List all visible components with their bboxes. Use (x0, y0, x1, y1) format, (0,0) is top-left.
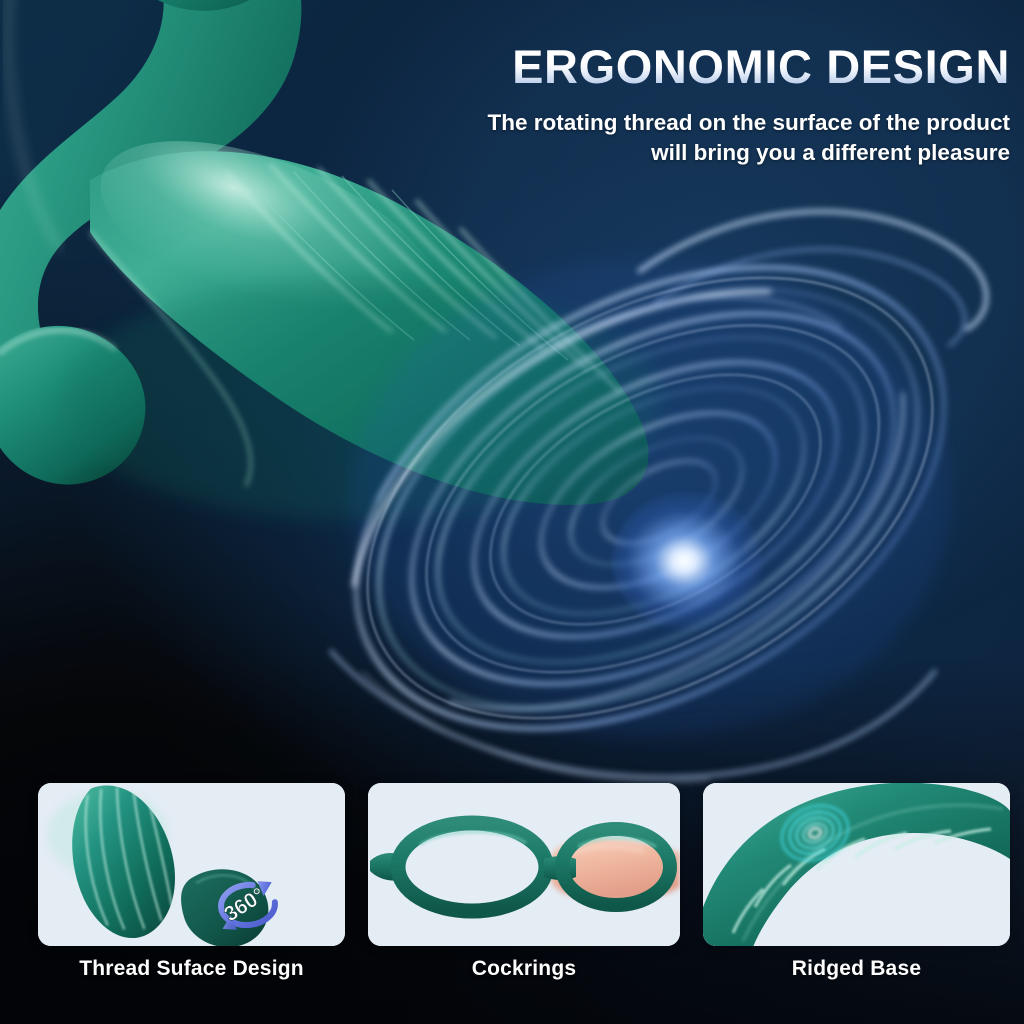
feature-card-thread-surface-design[interactable]: 360° (38, 783, 345, 946)
feature-card-row: 360° (38, 783, 1010, 946)
page-title: ERGONOMIC DESIGN (370, 42, 1010, 92)
headline-block: ERGONOMIC DESIGN The rotating thread on … (370, 42, 1010, 167)
feature-caption-row: Thread Suface Design Cockrings Ridged Ba… (38, 955, 1010, 995)
feature-card-cockrings[interactable] (368, 783, 680, 946)
caption-thread-surface-design: Thread Suface Design (38, 955, 345, 995)
caption-ridged-base: Ridged Base (703, 955, 1010, 995)
subtitle-line-2: will bring you a different pleasure (370, 138, 1010, 168)
subtitle-line-1: The rotating thread on the surface of th… (370, 108, 1010, 138)
feature-card-ridged-base[interactable] (703, 783, 1010, 946)
swirl-light-core (612, 492, 762, 630)
page-subtitle: The rotating thread on the surface of th… (370, 108, 1010, 167)
caption-cockrings: Cockrings (368, 955, 680, 995)
product-feature-banner: ERGONOMIC DESIGN The rotating thread on … (0, 0, 1024, 1024)
